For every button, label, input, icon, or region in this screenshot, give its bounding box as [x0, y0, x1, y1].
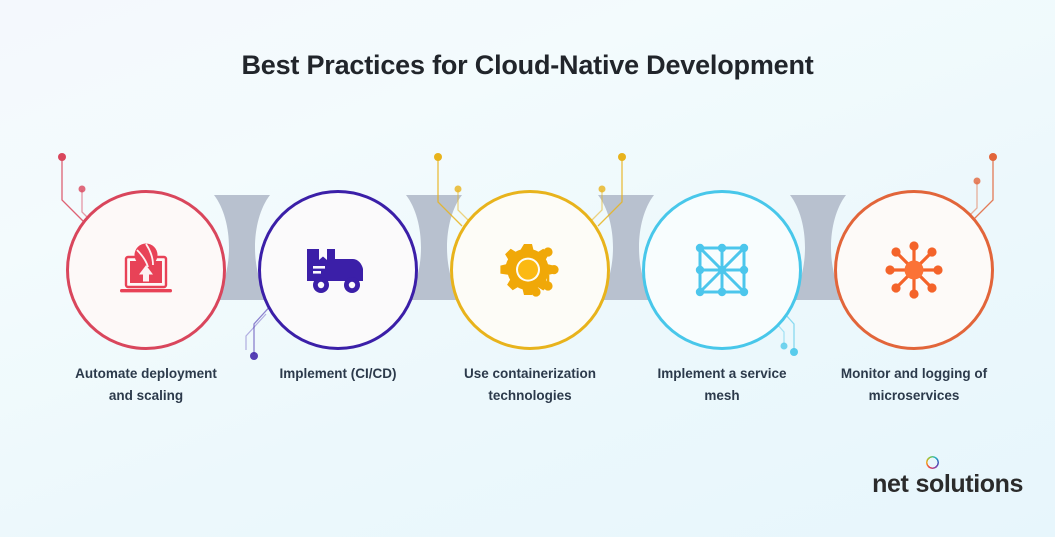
hub-spoke-nodes-icon: [877, 233, 951, 307]
infographic-canvas: Best Practices for Cloud-Native Developm…: [0, 0, 1055, 537]
steps-stage: [0, 150, 1055, 380]
page-title: Best Practices for Cloud-Native Developm…: [0, 50, 1055, 81]
circle-outline-2: [258, 190, 418, 350]
step-circle-containerization[interactable]: [450, 190, 610, 350]
step-circle-automate-deployment[interactable]: [66, 190, 226, 350]
mesh-grid-icon: [685, 233, 759, 307]
logo-word-solutions: solutions: [915, 470, 1023, 499]
logo-word-net: net: [872, 470, 908, 499]
delivery-truck-icon: [301, 233, 375, 307]
caption-line: and scaling: [31, 385, 261, 407]
circle-outline-5: [834, 190, 994, 350]
logo-color-ring-icon: [926, 456, 939, 469]
gear-circuit-icon: [493, 233, 567, 307]
circle-outline-3: [450, 190, 610, 350]
circle-outline-4: [642, 190, 802, 350]
caption-line: microservices: [799, 385, 1029, 407]
brand-logo[interactable]: net solutions: [872, 470, 1023, 499]
caption-monitoring-logging: Monitor and logging of microservices: [799, 363, 1029, 408]
laptop-cloud-upload-icon: [109, 233, 183, 307]
step-circle-ci-cd[interactable]: [258, 190, 418, 350]
step-circle-service-mesh[interactable]: [642, 190, 802, 350]
circle-outline-1: [66, 190, 226, 350]
caption-line: Monitor and logging of: [799, 363, 1029, 385]
step-circle-monitoring-logging[interactable]: [834, 190, 994, 350]
logo-solutions-text: solutions: [915, 470, 1023, 498]
